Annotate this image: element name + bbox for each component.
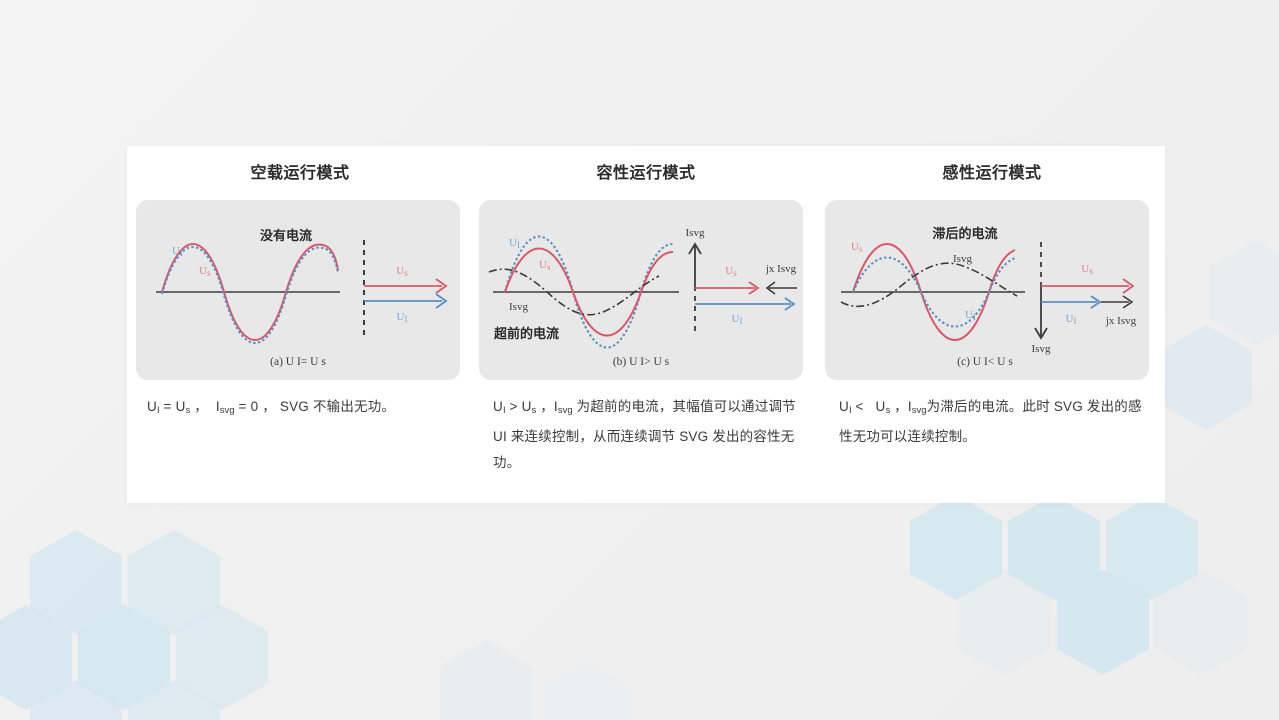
phasor-label-us: Us bbox=[1081, 263, 1093, 276]
panel-text-no-load: UI = Us ， Isvg = 0 ， SVG 不输出无功。 bbox=[127, 394, 473, 424]
figure-box-inductive: 滞后的电流 Us UI Isvg Isvg bbox=[825, 200, 1149, 380]
panel-title-no-load: 空载运行模式 bbox=[127, 162, 473, 186]
figure-box-no-load: 没有电流 UI Us bbox=[136, 200, 460, 380]
phasor-label-us: Us bbox=[725, 265, 737, 278]
wave-label-us: Us bbox=[199, 265, 211, 278]
ui-waveform-blue-dotted bbox=[162, 247, 338, 343]
isvg-axis-label: Isvg bbox=[1032, 343, 1051, 355]
wave-label-isvg: Isvg bbox=[509, 301, 528, 313]
wave-label-ui: UI bbox=[965, 309, 976, 322]
panel-title-capacitive: 容性运行模式 bbox=[473, 162, 819, 186]
figure-svg-capacitive: UI Us Isvg 超前的电流 Isvg bbox=[479, 200, 803, 380]
figure-caption-capacitive: (b) U I> U s bbox=[613, 356, 670, 368]
panel-text-run: UI < Us ，Isvg为滞后的电流。此时 SVG 发出的感性无功可以连续控制… bbox=[839, 399, 1142, 444]
wave-label-us: Us bbox=[539, 259, 551, 272]
wave-label-us: Us bbox=[851, 241, 863, 254]
figure-box-capacitive: UI Us Isvg 超前的电流 Isvg bbox=[479, 200, 803, 380]
figure-svg-no-load: 没有电流 UI Us bbox=[136, 200, 460, 380]
figure-svg-inductive: 滞后的电流 Us UI Isvg Isvg bbox=[825, 200, 1149, 380]
figure-heading-no-load: 没有电流 bbox=[260, 228, 312, 243]
wave-label-isvg: Isvg bbox=[953, 253, 972, 265]
figure-caption-no-load: (a) U I= U s bbox=[270, 356, 326, 368]
phasor-label-us: Us bbox=[396, 265, 408, 278]
panel-text-run: UI > Us ，Isvg 为超前的电流，其幅值可以通过调节 UI 来连续控制，… bbox=[493, 399, 796, 470]
panel-text-inductive: UI < Us ，Isvg为滞后的电流。此时 SVG 发出的感性无功可以连续控制… bbox=[819, 394, 1165, 450]
figure-heading-inductive: 滞后的电流 bbox=[932, 226, 997, 241]
wave-label-ui: UI bbox=[172, 245, 183, 258]
panel-capacitive: 容性运行模式 UI Us Isvg 超前的电流 bbox=[473, 146, 819, 503]
panel-no-load: 空载运行模式 没有电流 UI Us bbox=[127, 146, 473, 503]
panel-inductive: 感性运行模式 滞后的电流 Us UI Isvg bbox=[819, 146, 1165, 503]
wave-label-ui: UI bbox=[509, 237, 520, 250]
phasor-label-ui: UI bbox=[397, 311, 408, 324]
panel-title-inductive: 感性运行模式 bbox=[819, 162, 1165, 186]
phasor-label-jxisvg: jx Isvg bbox=[1105, 315, 1137, 327]
panel-text-capacitive: UI > Us ，Isvg 为超前的电流，其幅值可以通过调节 UI 来连续控制，… bbox=[473, 394, 819, 476]
phasor-label-ui: UI bbox=[732, 313, 743, 326]
isvg-axis-label: Isvg bbox=[686, 227, 705, 239]
panel-text-run: UI = Us ， Isvg = 0 ， SVG 不输出无功。 bbox=[147, 399, 395, 414]
figure-caption-inductive: (c) U I< U s bbox=[957, 356, 1013, 368]
figure-heading-capacitive: 超前的电流 bbox=[494, 326, 559, 341]
phasor-label-jxisvg: jx Isvg bbox=[765, 263, 797, 275]
phasor-label-ui: UI bbox=[1066, 313, 1077, 326]
content-card: 空载运行模式 没有电流 UI Us bbox=[127, 146, 1165, 503]
panels-row: 空载运行模式 没有电流 UI Us bbox=[127, 146, 1165, 503]
